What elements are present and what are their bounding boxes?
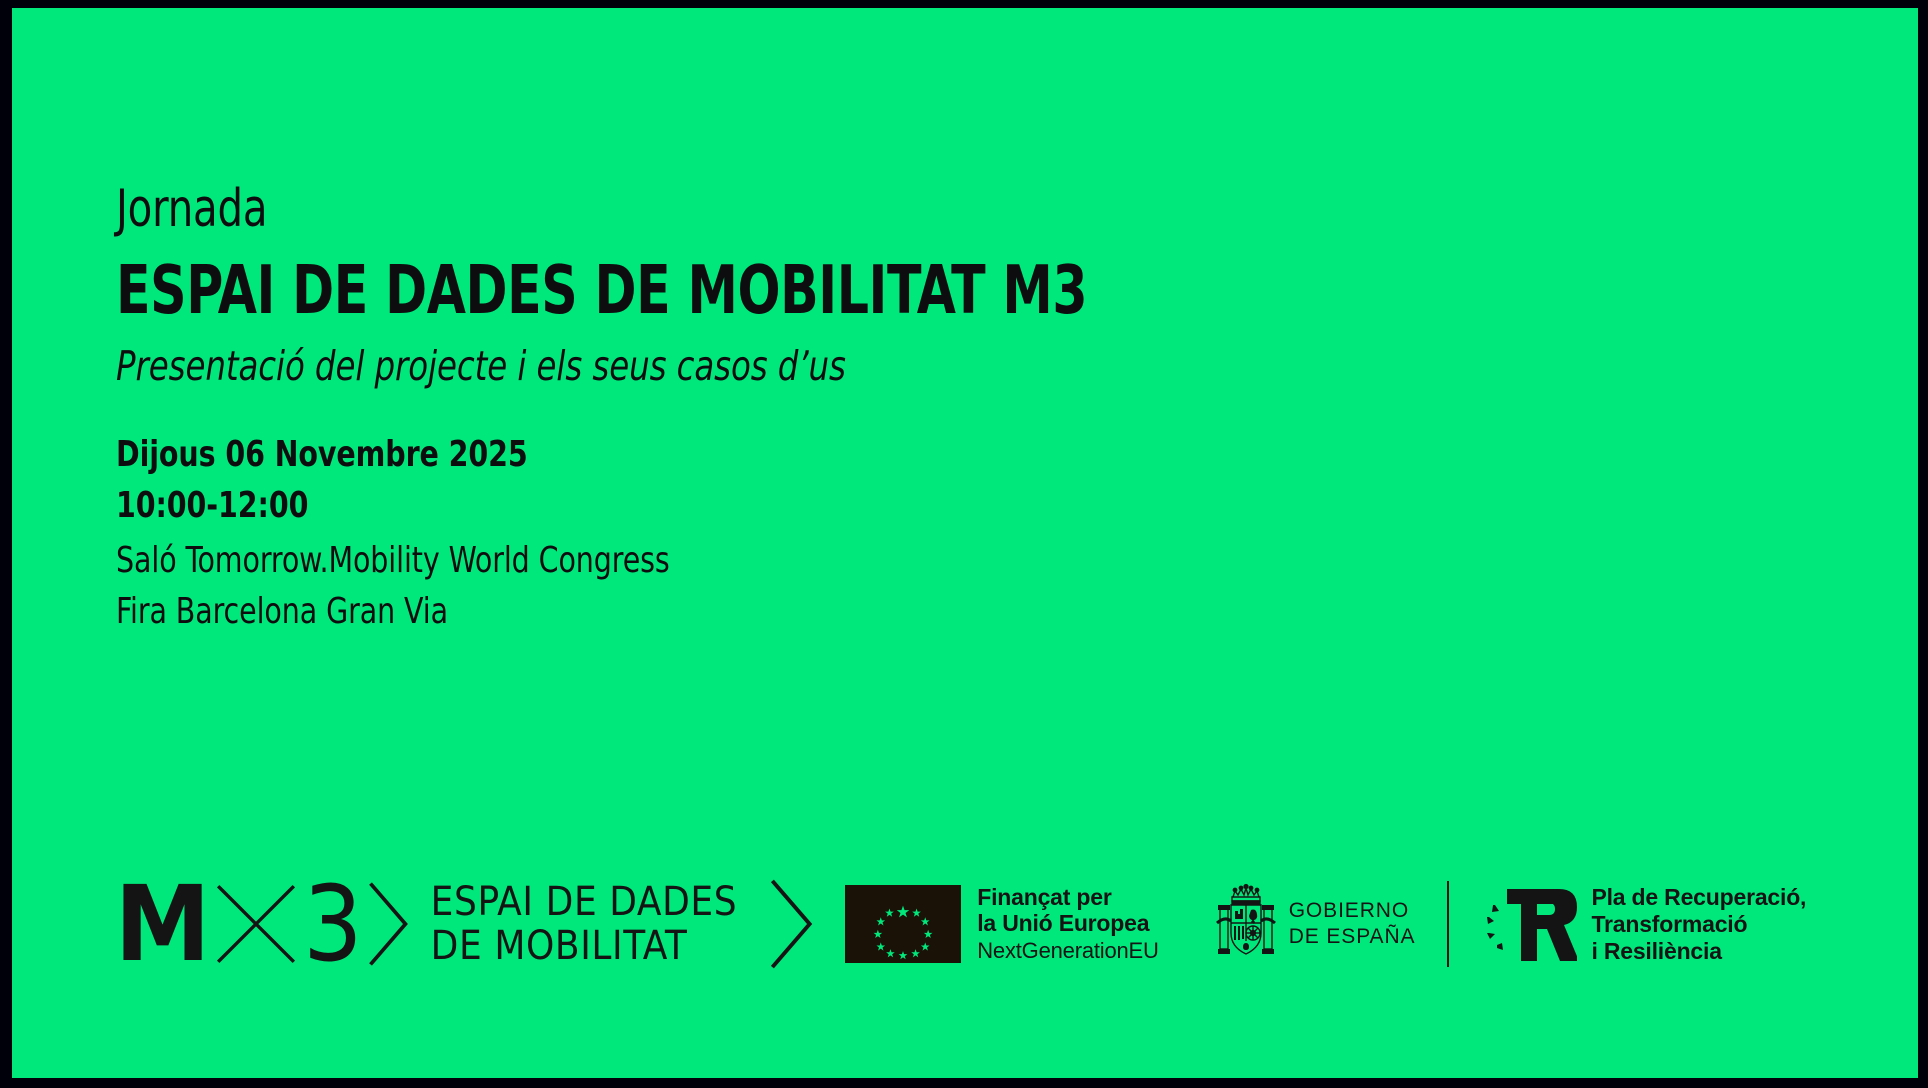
footer-logo-bar: M 3 ESPAI DE DADES DE MOBILITAT (116, 868, 1806, 980)
event-venue-line2: Fira Barcelona Gran Via (116, 586, 1133, 637)
gobierno-text: GOBIERNO DE ESPAÑA (1289, 898, 1416, 950)
event-date: Dijous 06 Novembre 2025 (116, 429, 1133, 480)
eu-funding-logo: Finançat per la Unió Europea NextGenerat… (845, 884, 1158, 964)
poster-canvas: Jornada ESPAI DE DADES DE MOBILITAT M3 P… (12, 8, 1918, 1078)
prtr-line2: Transformació (1591, 911, 1806, 938)
eyebrow-label: Jornada (116, 183, 1110, 235)
m3-letter-m: M (115, 872, 211, 976)
m3-wordmark: ESPAI DE DADES DE MOBILITAT (431, 880, 738, 968)
prtr-line1: Pla de Recuperació, (1591, 884, 1806, 911)
prtr-logo: Pla de Recuperació, Transformació i Resi… (1481, 881, 1806, 967)
m3-letter-3: 3 (303, 872, 363, 976)
m3-wordmark-line2: DE MOBILITAT (431, 924, 738, 968)
x-cross-icon (213, 881, 299, 967)
eu-line3: NextGenerationEU (977, 938, 1158, 964)
m3-logo: M 3 ESPAI DE DADES DE MOBILITAT (116, 872, 845, 976)
poster-frame: Jornada ESPAI DE DADES DE MOBILITAT M3 P… (0, 0, 1928, 1088)
eu-line2: la Unió Europea (977, 910, 1158, 936)
prtr-monogram-icon (1481, 881, 1577, 967)
event-time: 10:00-12:00 (116, 480, 1133, 531)
prtr-line3: i Resiliència (1591, 938, 1806, 965)
event-text-block: Jornada ESPAI DE DADES DE MOBILITAT M3 P… (116, 183, 1272, 637)
m3-wordmark-line1: ESPAI DE DADES (431, 880, 738, 924)
footer-divider (1447, 881, 1449, 967)
event-venue-line1: Saló Tomorrow.Mobility World Congress (116, 535, 1133, 586)
gobierno-logo: GOBIERNO DE ESPAÑA (1215, 883, 1416, 965)
eu-line1: Finançat per (977, 884, 1158, 910)
chevron-right-icon (365, 877, 411, 971)
page-title: ESPAI DE DADES DE MOBILITAT M3 (116, 257, 1087, 324)
prtr-text: Pla de Recuperació, Transformació i Resi… (1591, 884, 1806, 965)
eu-funding-text: Finançat per la Unió Europea NextGenerat… (977, 884, 1158, 964)
eu-flag-icon (845, 885, 961, 963)
page-subtitle: Presentació del projecte i els seus caso… (116, 346, 1133, 387)
gobierno-line1: GOBIERNO (1289, 898, 1416, 924)
event-details-list: Dijous 06 Novembre 2025 10:00-12:00 Saló… (116, 429, 1272, 637)
spain-coat-of-arms-icon (1215, 883, 1277, 965)
chevron-right-icon (765, 875, 817, 973)
gobierno-line2: DE ESPAÑA (1289, 924, 1416, 950)
